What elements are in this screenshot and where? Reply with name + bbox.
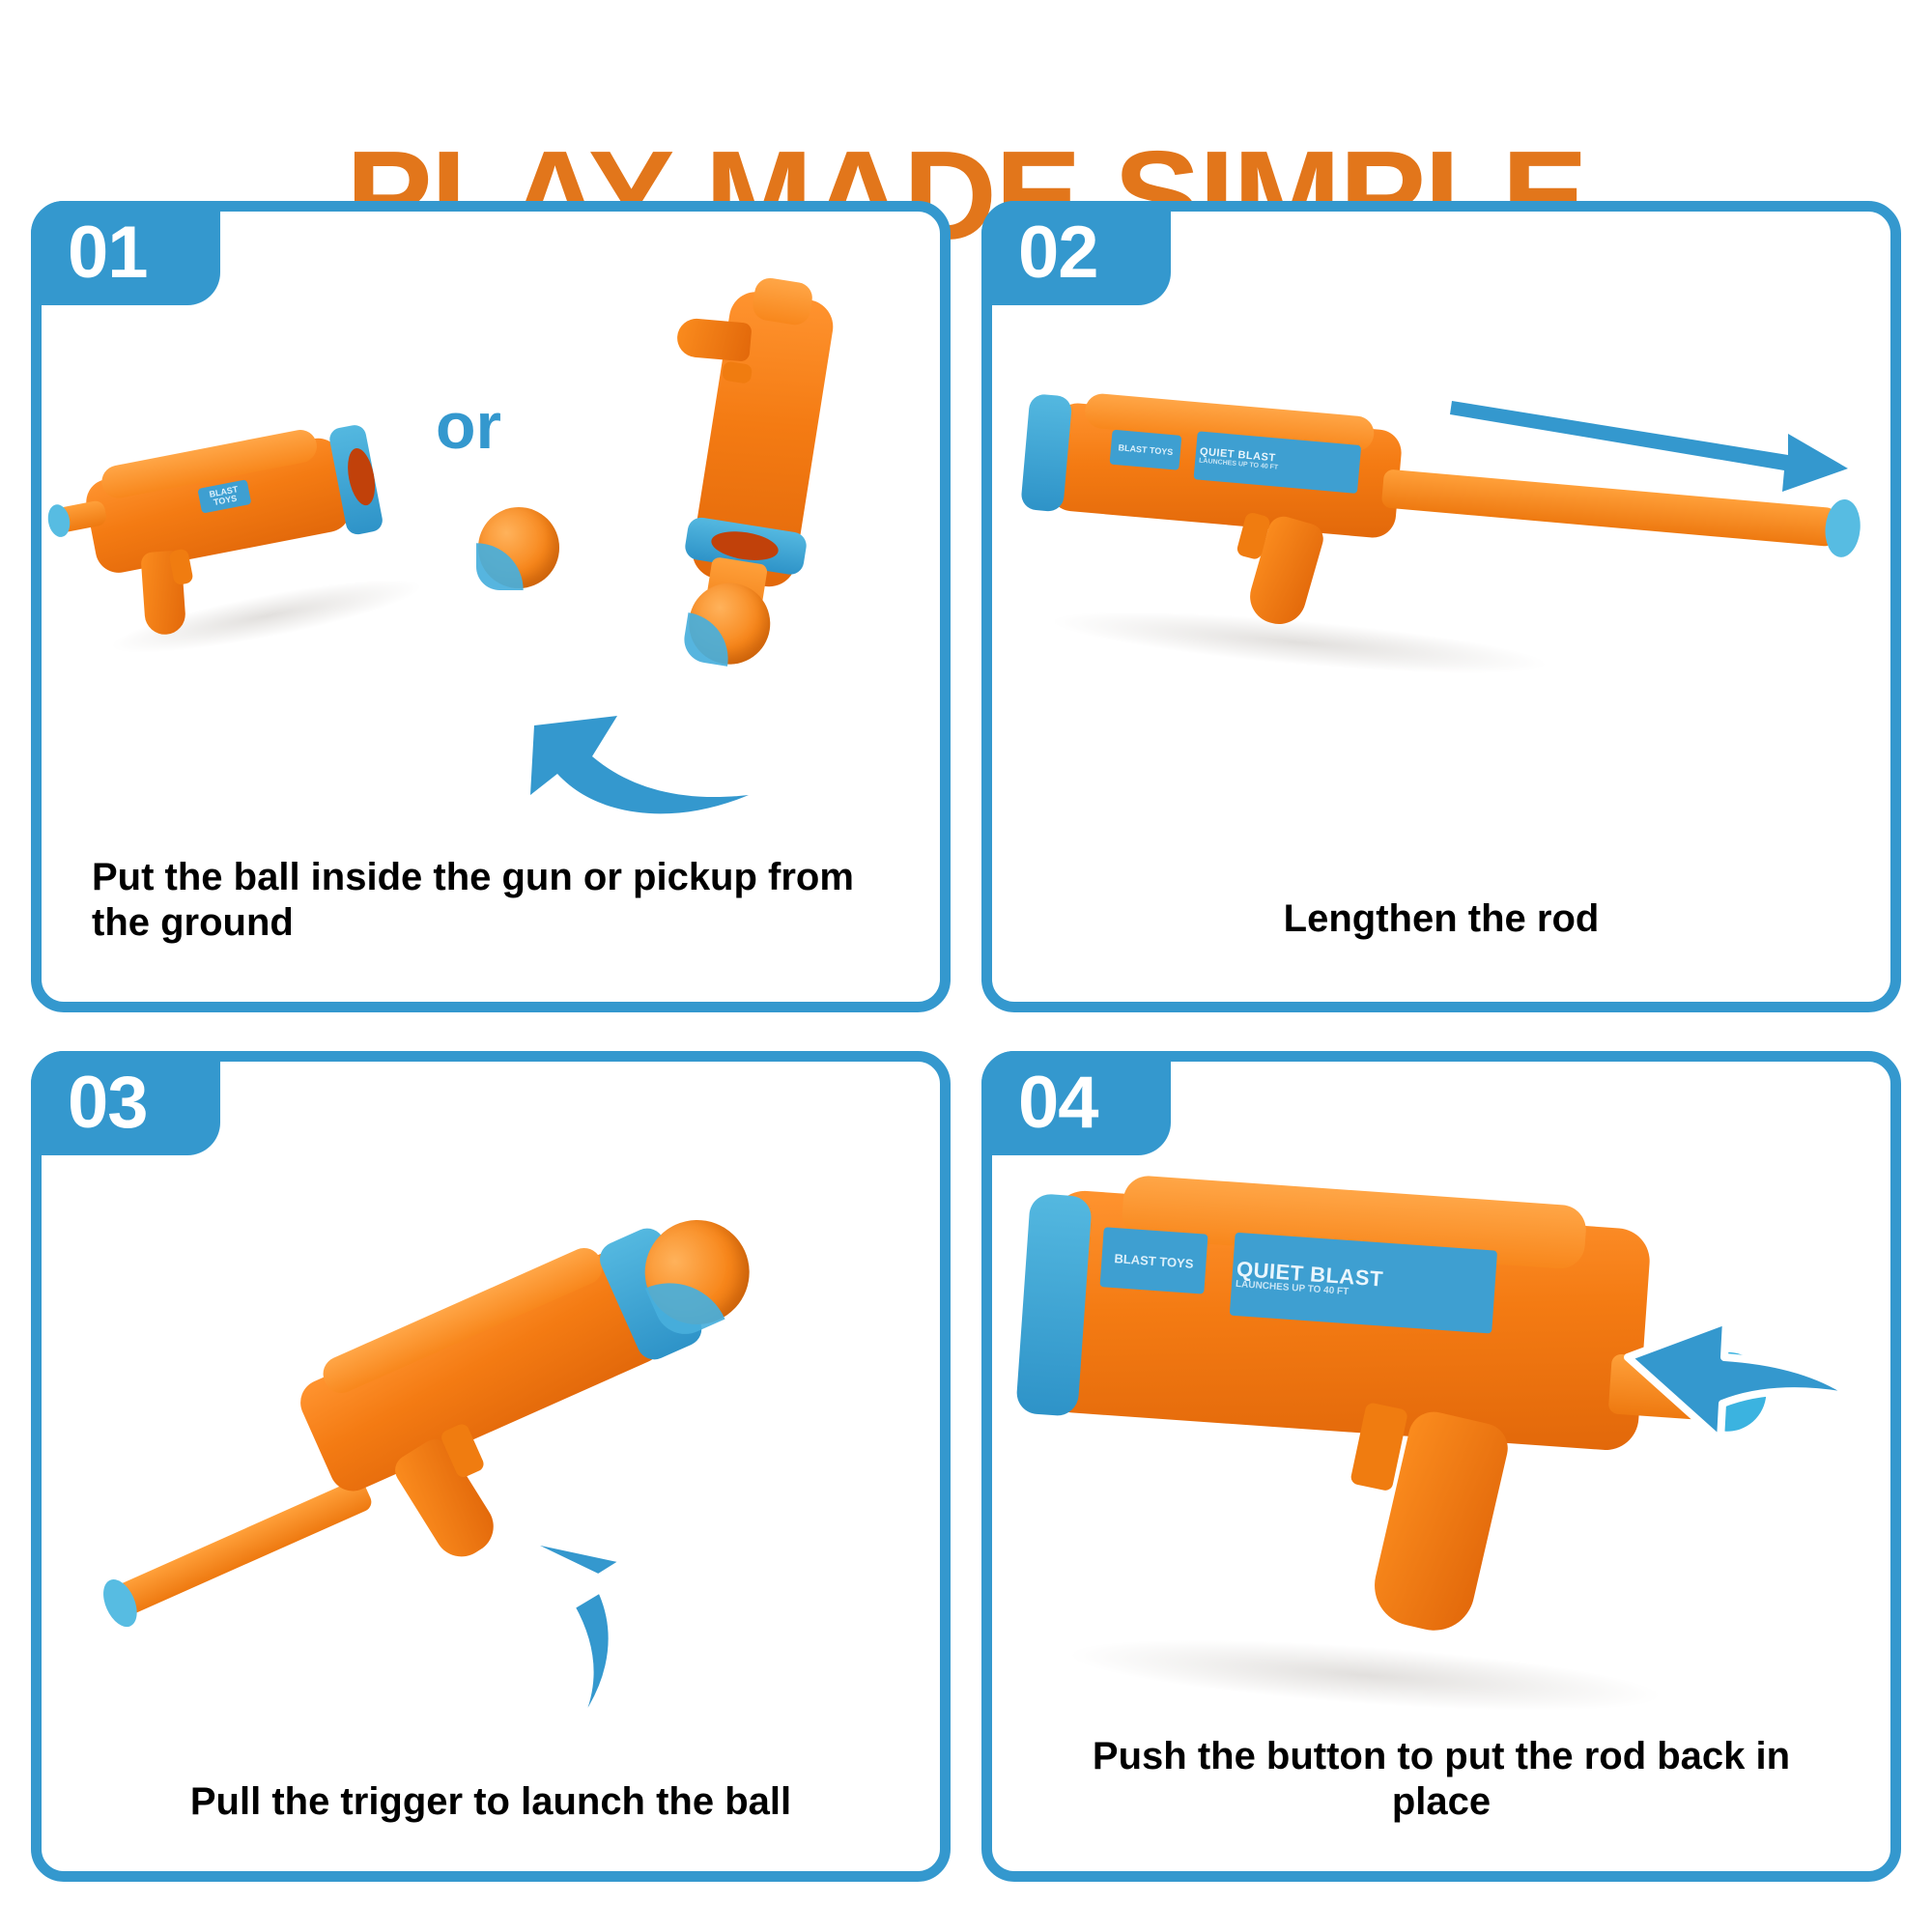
toy-gun-left: BLAST TOYS [42, 367, 492, 665]
step-caption-02: Lengthen the rod [1042, 896, 1840, 942]
gun-grip [675, 317, 752, 361]
step-badge-01: 01 [31, 201, 220, 305]
step-03-illustration [42, 1062, 940, 1871]
step-card-02[interactable]: BLAST TOYS QUIET BLAST LAUNCHES UP TO 40… [981, 201, 1901, 1012]
step-badge-03: 03 [31, 1051, 220, 1155]
curved-arrow-left-icon [1620, 1315, 1861, 1479]
step-badge-02: 02 [981, 201, 1171, 305]
step-caption-04: Push the button to put the rod back in p… [1042, 1734, 1840, 1825]
toy-gun-upright [608, 251, 940, 735]
gun-shadow [1065, 1626, 1666, 1725]
gun-rod-retracted [105, 1477, 375, 1621]
step-card-03[interactable]: 03 Pull the trigger to launch the ball [31, 1051, 951, 1882]
steps-grid: BLAST TOYS or [0, 201, 1932, 1901]
step-caption-03: Pull the trigger to launch the ball [92, 1779, 890, 1825]
straight-arrow-right-icon [1448, 391, 1854, 507]
step-caption-01: Put the ball inside the gun or pickup fr… [92, 855, 890, 946]
step-card-04[interactable]: BLAST TOYS QUIET BLAST LAUNCHES UP TO 40… [981, 1051, 1901, 1882]
step-02-illustration: BLAST TOYS QUIET BLAST LAUNCHES UP TO 40… [992, 212, 1890, 1002]
curved-arrow-up-left-icon [482, 1514, 675, 1746]
gun-side-badge: BLAST TOYS [1099, 1227, 1207, 1293]
foam-ball [478, 507, 559, 588]
gun-side-badge: BLAST TOYS [1110, 430, 1182, 470]
step-card-01[interactable]: BLAST TOYS or [31, 201, 951, 1012]
step-badge-04: 04 [981, 1051, 1171, 1155]
ball-band [681, 612, 735, 667]
curved-arrow-up-left-icon [525, 695, 776, 859]
or-label: or [436, 393, 501, 459]
ball-band [476, 543, 524, 590]
